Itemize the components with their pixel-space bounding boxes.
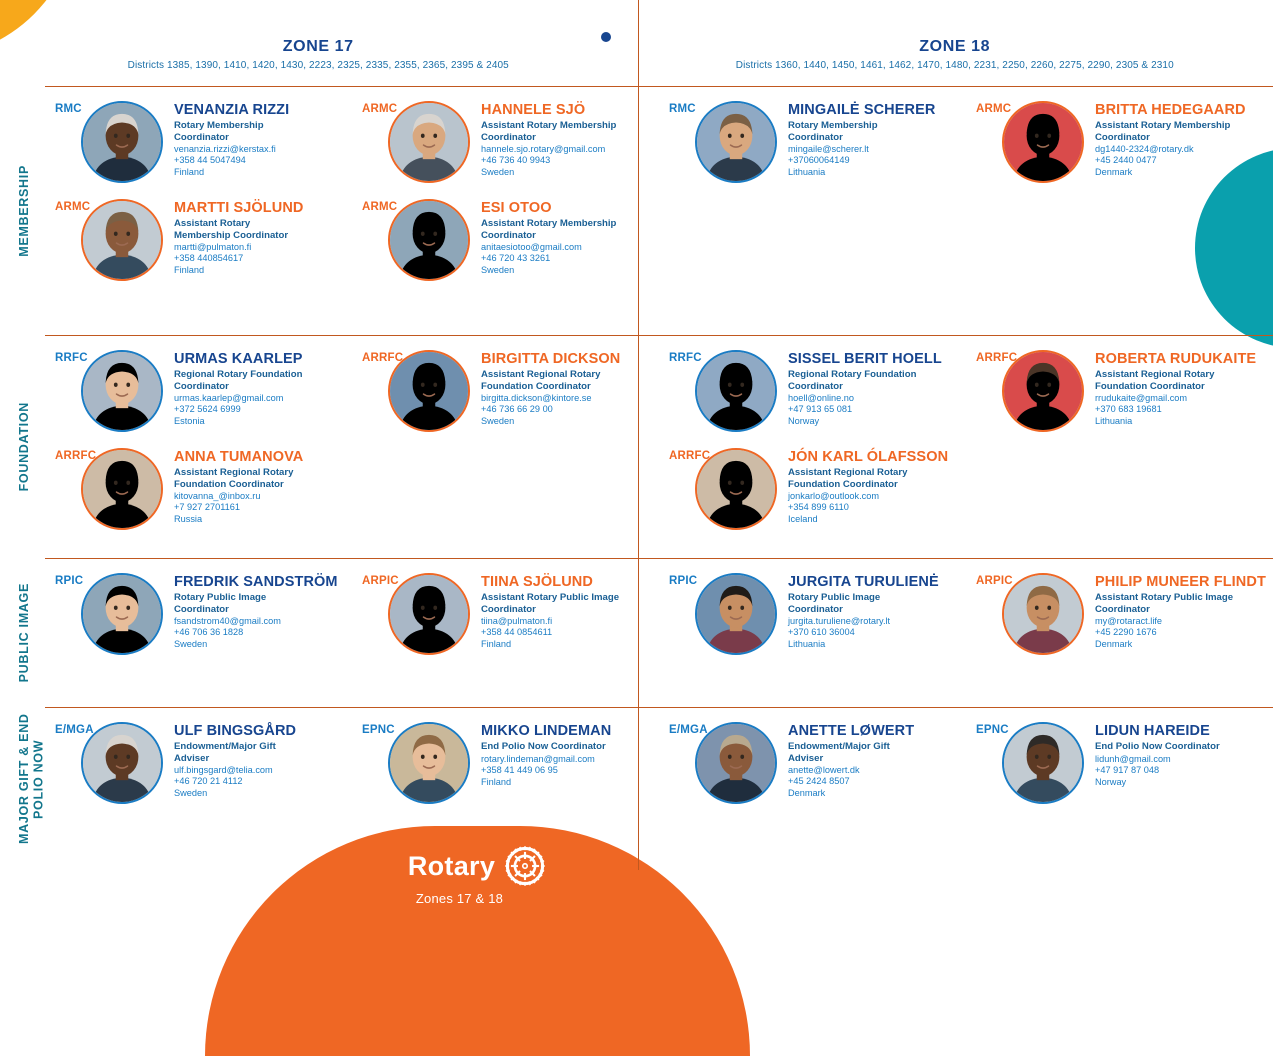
person-phone[interactable]: +370 610 36004 [788,627,939,639]
person-phone[interactable]: +354 899 6110 [788,502,948,514]
person-country: Finland [481,777,611,789]
grid-cell: ARMCBRITTA HEDEGAARDAssistant Rotary Mem… [966,87,1273,335]
avatar [81,101,163,183]
person-phone[interactable]: +45 2290 1676 [1095,627,1266,639]
person-name: JURGITA TURULIENĖ [788,575,939,590]
grid-cell: E/MGAULF BINGSGÅRDEndowment/Major Gift A… [45,708,352,850]
person-country: Sweden [174,639,338,651]
person-info: URMAS KAARLEPRegional Rotary Foundation … [174,350,306,427]
band-label-text: MEMBERSHIP [17,165,31,257]
person-email[interactable]: ulf.bingsgard@telia.com [174,765,306,777]
zone-18-column: RMCMINGAILĖ SCHERERRotary Membership Coo… [659,87,1273,335]
person-card[interactable]: ARRFCANNA TUMANOVAAssistant Regional Rot… [59,448,346,530]
role-badge: ARMC [362,201,397,213]
person-name: ANETTE LØWERT [788,724,920,739]
person-phone[interactable]: +358 440854617 [174,253,306,265]
person-phone[interactable]: +46 736 40 9943 [481,155,631,167]
avatar [388,199,470,281]
person-phone[interactable]: +358 41 449 06 95 [481,765,611,777]
person-country: Denmark [1095,639,1266,651]
role-badge: ARPIC [362,575,399,587]
band-label-text: FOUNDATION [17,402,31,491]
person-info: ROBERTA RUDUKAITEAssistant Regional Rota… [1095,350,1256,427]
person-phone[interactable]: +46 720 43 3261 [481,253,631,265]
person-phone[interactable]: +358 44 5047494 [174,155,306,167]
person-country: Estonia [174,416,306,428]
role-badge: ARPIC [976,575,1013,587]
role-badge: ARMC [362,103,397,115]
person-card[interactable]: ARRFCBIRGITTA DICKSONAssistant Regional … [366,350,653,432]
person-country: Finland [174,265,306,277]
role-badge: RMC [669,103,696,115]
band-public-image: PUBLIC IMAGERPICFREDRIK SANDSTRÖMRotary … [45,558,1273,707]
role-badge: ARRFC [669,450,710,462]
avatar [695,350,777,432]
avatar [695,101,777,183]
person-email[interactable]: mingaile@scherer.lt [788,144,935,156]
person-card[interactable]: ARMCBRITTA HEDEGAARDAssistant Rotary Mem… [980,101,1267,183]
person-title: Assistant Rotary Public Image Coordinato… [1095,592,1245,615]
person-info: ANNA TUMANOVAAssistant Regional Rotary F… [174,448,306,525]
person-country: Denmark [788,788,920,800]
person-info: LIDUN HAREIDEEnd Polio Now Coordinatorli… [1095,722,1220,788]
zone-17-column: E/MGAULF BINGSGÅRDEndowment/Major Gift A… [45,708,659,850]
person-info: ULF BINGSGÅRDEndowment/Major Gift Advise… [174,722,306,799]
person-title: Rotary Public Image Coordinator [174,592,306,615]
person-name: URMAS KAARLEP [174,352,306,367]
grid-cell: EPNCMIKKO LINDEMANEnd Polio Now Coordina… [352,708,659,850]
rotary-wheel-icon [503,844,547,888]
person-country: Sweden [174,788,306,800]
zone-18-column: RPICJURGITA TURULIENĖRotary Public Image… [659,559,1273,707]
band-label: MAJOR GIFT & END POLIO NOW [17,708,46,850]
person-phone[interactable]: +46 720 21 4112 [174,776,306,788]
person-name: ANNA TUMANOVA [174,450,306,465]
zone-18-column: E/MGAANETTE LØWERTEndowment/Major Gift A… [659,708,1273,850]
person-name: ROBERTA RUDUKAITE [1095,352,1256,367]
person-country: Lithuania [788,639,939,651]
person-phone[interactable]: +45 2440 0477 [1095,155,1246,167]
grid-cell: RMCVENANZIA RIZZIRotary Membership Coord… [45,87,352,335]
person-title: End Polio Now Coordinator [1095,741,1220,752]
grid-cell: ARPICTIINA SJÖLUNDAssistant Rotary Publi… [352,559,659,707]
person-phone[interactable]: +47 913 65 081 [788,404,942,416]
person-card[interactable]: EPNCLIDUN HAREIDEEnd Polio Now Coordinat… [980,722,1267,804]
role-badge: RMC [55,103,82,115]
person-country: Denmark [1095,167,1246,179]
person-info: FREDRIK SANDSTRÖMRotary Public Image Coo… [174,573,338,650]
grid-cell: EPNCLIDUN HAREIDEEnd Polio Now Coordinat… [966,708,1273,850]
person-info: BIRGITTA DICKSONAssistant Regional Rotar… [481,350,631,427]
person-phone[interactable]: +45 2424 8507 [788,776,920,788]
person-email[interactable]: kitovanna_@inbox.ru [174,491,306,503]
band-foundation: FOUNDATIONRRFCURMAS KAARLEPRegional Rota… [45,335,1273,558]
person-card[interactable]: ARMCMARTTI SJÖLUNDAssistant Rotary Membe… [59,199,346,281]
grid-cell: ARMCHANNELE SJÖAssistant Rotary Membersh… [352,87,659,335]
person-title: Assistant Regional Rotary Foundation Coo… [481,369,631,392]
person-title: End Polio Now Coordinator [481,741,611,752]
zone-title: ZONE 18 [637,38,1273,56]
person-phone[interactable]: +370 683 19681 [1095,404,1256,416]
person-phone[interactable]: +47 917 87 048 [1095,765,1220,777]
role-badge: RRFC [669,352,702,364]
person-card[interactable]: RRFCURMAS KAARLEPRegional Rotary Foundat… [59,350,346,432]
role-badge: ARMC [55,201,90,213]
person-title: Assistant Regional Rotary Foundation Coo… [1095,369,1245,392]
person-email[interactable]: dg1440-2324@rotary.dk [1095,144,1246,156]
person-email[interactable]: anette@lowert.dk [788,765,920,777]
person-email[interactable]: birgitta.dickson@kintore.se [481,393,631,405]
band-major-gift-end-polio-now: MAJOR GIFT & END POLIO NOWE/MGAULF BINGS… [45,707,1273,850]
person-email[interactable]: hoell@online.no [788,393,942,405]
person-name: LIDUN HAREIDE [1095,724,1220,739]
person-title: Regional Rotary Foundation Coordinator [788,369,920,392]
person-country: Lithuania [1095,416,1256,428]
person-info: MIKKO LINDEMANEnd Polio Now Coordinatorr… [481,722,611,788]
person-name: JÓN KARL ÓLAFSSON [788,450,948,465]
grid-cell: ARRFCROBERTA RUDUKAITEAssistant Regional… [966,336,1273,558]
person-country: Iceland [788,514,948,526]
person-info: ANETTE LØWERTEndowment/Major Gift Advise… [788,722,920,799]
avatar [1002,573,1084,655]
coordinator-grid: MEMBERSHIPRMCVENANZIA RIZZIRotary Member… [45,86,1273,850]
person-info: PHILIP MUNEER FLINDTAssistant Rotary Pub… [1095,573,1266,650]
person-title: Assistant Rotary Membership Coordinator [1095,120,1245,143]
grid-cell: ARRFCBIRGITTA DICKSONAssistant Regional … [352,336,659,558]
person-title: Regional Rotary Foundation Coordinator [174,369,306,392]
role-badge: ARRFC [55,450,96,462]
grid-cell: RMCMINGAILĖ SCHERERRotary Membership Coo… [659,87,966,335]
role-badge: E/MGA [669,724,708,736]
role-badge: E/MGA [55,724,94,736]
person-email[interactable]: rotary.lindeman@gmail.com [481,754,611,766]
person-card[interactable]: ARRFCJÓN KARL ÓLAFSSONAssistant Regional… [673,448,960,530]
grid-cell: RPICFREDRIK SANDSTRÖMRotary Public Image… [45,559,352,707]
person-country: Lithuania [788,167,935,179]
person-phone[interactable]: +7 927 2701161 [174,502,306,514]
zone-17-column: RPICFREDRIK SANDSTRÖMRotary Public Image… [45,559,659,707]
grid-cell: RRFCSISSEL BERIT HOELLRegional Rotary Fo… [659,336,966,558]
person-title: Rotary Membership Coordinator [788,120,920,143]
person-email[interactable]: hannele.sjo.rotary@gmail.com [481,144,631,156]
person-name: ESI OTOO [481,201,631,216]
person-name: SISSEL BERIT HOELL [788,352,942,367]
zone-districts: Districts 1385, 1390, 1410, 1420, 1430, … [0,60,637,71]
person-info: ESI OTOOAssistant Rotary Membership Coor… [481,199,631,276]
person-email[interactable]: jurgita.turuliene@rotary.lt [788,616,939,628]
grid-cell: RPICJURGITA TURULIENĖRotary Public Image… [659,559,966,707]
band-content: RMCVENANZIA RIZZIRotary Membership Coord… [45,87,1273,335]
person-title: Assistant Regional Rotary Foundation Coo… [788,467,920,490]
band-content: RRFCURMAS KAARLEPRegional Rotary Foundat… [45,336,1273,558]
person-name: MIKKO LINDEMAN [481,724,611,739]
zone-17-column: RMCVENANZIA RIZZIRotary Membership Coord… [45,87,659,335]
person-info: MARTTI SJÖLUNDAssistant Rotary Membershi… [174,199,306,276]
avatar [1002,101,1084,183]
person-country: Sweden [481,416,631,428]
person-email[interactable]: venanzia.rizzi@kerstax.fi [174,144,306,156]
person-country: Sweden [481,167,631,179]
person-name: HANNELE SJÖ [481,103,631,118]
person-email[interactable]: urmas.kaarlep@gmail.com [174,393,306,405]
person-title: Assistant Rotary Membership Coordinator [481,218,631,241]
person-card[interactable]: ARMCHANNELE SJÖAssistant Rotary Membersh… [366,101,653,183]
person-info: HANNELE SJÖAssistant Rotary Membership C… [481,101,631,178]
person-country: Norway [788,416,942,428]
person-title: Endowment/Major Gift Adviser [788,741,920,764]
role-badge: ARRFC [362,352,403,364]
person-card[interactable]: ARRFCROBERTA RUDUKAITEAssistant Regional… [980,350,1267,432]
band-label: FOUNDATION [17,336,31,558]
person-email[interactable]: rrudukaite@gmail.com [1095,393,1256,405]
avatar [81,573,163,655]
person-title: Rotary Public Image Coordinator [788,592,920,615]
person-title: Assistant Regional Rotary Foundation Coo… [174,467,306,490]
person-name: FREDRIK SANDSTRÖM [174,575,338,590]
avatar [81,199,163,281]
role-badge: ARRFC [976,352,1017,364]
avatar [1002,722,1084,804]
avatar [388,573,470,655]
person-name: PHILIP MUNEER FLINDT [1095,575,1266,590]
person-email[interactable]: anitaesiotoo@gmail.com [481,242,631,254]
person-info: TIINA SJÖLUNDAssistant Rotary Public Ima… [481,573,631,650]
person-name: TIINA SJÖLUND [481,575,631,590]
person-card[interactable]: RMCVENANZIA RIZZIRotary Membership Coord… [59,101,346,183]
person-title: Rotary Membership Coordinator [174,120,306,143]
avatar [388,101,470,183]
person-card[interactable]: RMCMINGAILĖ SCHERERRotary Membership Coo… [673,101,960,183]
person-title: Assistant Rotary Membership Coordinator [174,218,306,241]
person-country: Finland [174,167,306,179]
person-name: MARTTI SJÖLUND [174,201,306,216]
person-card[interactable]: RPICJURGITA TURULIENĖRotary Public Image… [673,573,960,655]
role-badge: EPNC [976,724,1009,736]
person-card[interactable]: RRFCSISSEL BERIT HOELLRegional Rotary Fo… [673,350,960,432]
role-badge: RRFC [55,352,88,364]
avatar [81,350,163,432]
avatar [388,722,470,804]
zone-headers: ZONE 17 Districts 1385, 1390, 1410, 1420… [0,38,1273,86]
person-email[interactable]: tiina@pulmaton.fi [481,616,631,628]
person-email[interactable]: martti@pulmaton.fi [174,242,306,254]
grid-cell: E/MGAANETTE LØWERTEndowment/Major Gift A… [659,708,966,850]
zone-header-17: ZONE 17 Districts 1385, 1390, 1410, 1420… [0,38,637,86]
footer-arc: Rotary [205,826,750,1056]
zone-17-column: RRFCURMAS KAARLEPRegional Rotary Foundat… [45,336,659,558]
person-info: SISSEL BERIT HOELLRegional Rotary Founda… [788,350,942,427]
grid-cell: RRFCURMAS KAARLEPRegional Rotary Foundat… [45,336,352,558]
band-label-text: PUBLIC IMAGE [17,583,31,682]
person-phone[interactable]: +372 5624 6999 [174,404,306,416]
band-content: E/MGAULF BINGSGÅRDEndowment/Major Gift A… [45,708,1273,850]
role-badge: RPIC [55,575,83,587]
person-card[interactable]: ARMCESI OTOOAssistant Rotary Membership … [366,199,653,281]
person-email[interactable]: fsandstrom40@gmail.com [174,616,338,628]
band-label: MEMBERSHIP [17,87,31,335]
person-phone[interactable]: +37060064149 [788,155,935,167]
band-membership: MEMBERSHIPRMCVENANZIA RIZZIRotary Member… [45,86,1273,335]
person-name: VENANZIA RIZZI [174,103,306,118]
logo-subtitle: Zones 17 & 18 [416,891,503,906]
band-label: PUBLIC IMAGE [17,559,31,707]
person-card[interactable]: EPNCMIKKO LINDEMANEnd Polio Now Coordina… [366,722,653,804]
person-card[interactable]: E/MGAULF BINGSGÅRDEndowment/Major Gift A… [59,722,346,804]
person-name: BRITTA HEDEGAARD [1095,103,1246,118]
person-country: Finland [481,639,631,651]
person-card[interactable]: ARPICTIINA SJÖLUNDAssistant Rotary Publi… [366,573,653,655]
person-name: BIRGITTA DICKSON [481,352,631,367]
zone-header-18: ZONE 18 Districts 1360, 1440, 1450, 1461… [637,38,1273,86]
grid-cell: ARPICPHILIP MUNEER FLINDTAssistant Rotar… [966,559,1273,707]
person-card[interactable]: E/MGAANETTE LØWERTEndowment/Major Gift A… [673,722,960,804]
person-card[interactable]: RPICFREDRIK SANDSTRÖMRotary Public Image… [59,573,346,655]
band-label-text: MAJOR GIFT & END POLIO NOW [17,708,46,850]
person-name: ULF BINGSGÅRD [174,724,306,739]
person-title: Assistant Rotary Public Image Coordinato… [481,592,631,615]
zone-18-column: RRFCSISSEL BERIT HOELLRegional Rotary Fo… [659,336,1273,558]
person-email[interactable]: my@rotaract.life [1095,616,1266,628]
logo-wordmark: Rotary [408,853,495,880]
person-info: JÓN KARL ÓLAFSSONAssistant Regional Rota… [788,448,948,525]
avatar [695,573,777,655]
person-info: JURGITA TURULIENĖRotary Public Image Coo… [788,573,939,650]
zone-title: ZONE 17 [0,38,637,56]
person-name: MINGAILĖ SCHERER [788,103,935,118]
person-phone[interactable]: +46 736 66 29 00 [481,404,631,416]
person-title: Assistant Rotary Membership Coordinator [481,120,631,143]
zone-districts: Districts 1360, 1440, 1450, 1461, 1462, … [637,60,1273,71]
role-badge: EPNC [362,724,395,736]
role-badge: RPIC [669,575,697,587]
person-country: Sweden [481,265,631,277]
person-country: Norway [1095,777,1220,789]
person-info: VENANZIA RIZZIRotary Membership Coordina… [174,101,306,178]
person-phone[interactable]: +46 706 36 1828 [174,627,338,639]
person-info: BRITTA HEDEGAARDAssistant Rotary Members… [1095,101,1246,178]
person-email[interactable]: jonkarlo@outlook.com [788,491,948,503]
rotary-logo: Rotary [205,844,750,906]
person-info: MINGAILĖ SCHERERRotary Membership Coordi… [788,101,935,178]
person-email[interactable]: lidunh@gmail.com [1095,754,1220,766]
person-card[interactable]: ARPICPHILIP MUNEER FLINDTAssistant Rotar… [980,573,1267,655]
role-badge: ARMC [976,103,1011,115]
band-content: RPICFREDRIK SANDSTRÖMRotary Public Image… [45,559,1273,707]
person-title: Endowment/Major Gift Adviser [174,741,306,764]
person-phone[interactable]: +358 44 0854611 [481,627,631,639]
person-country: Russia [174,514,306,526]
